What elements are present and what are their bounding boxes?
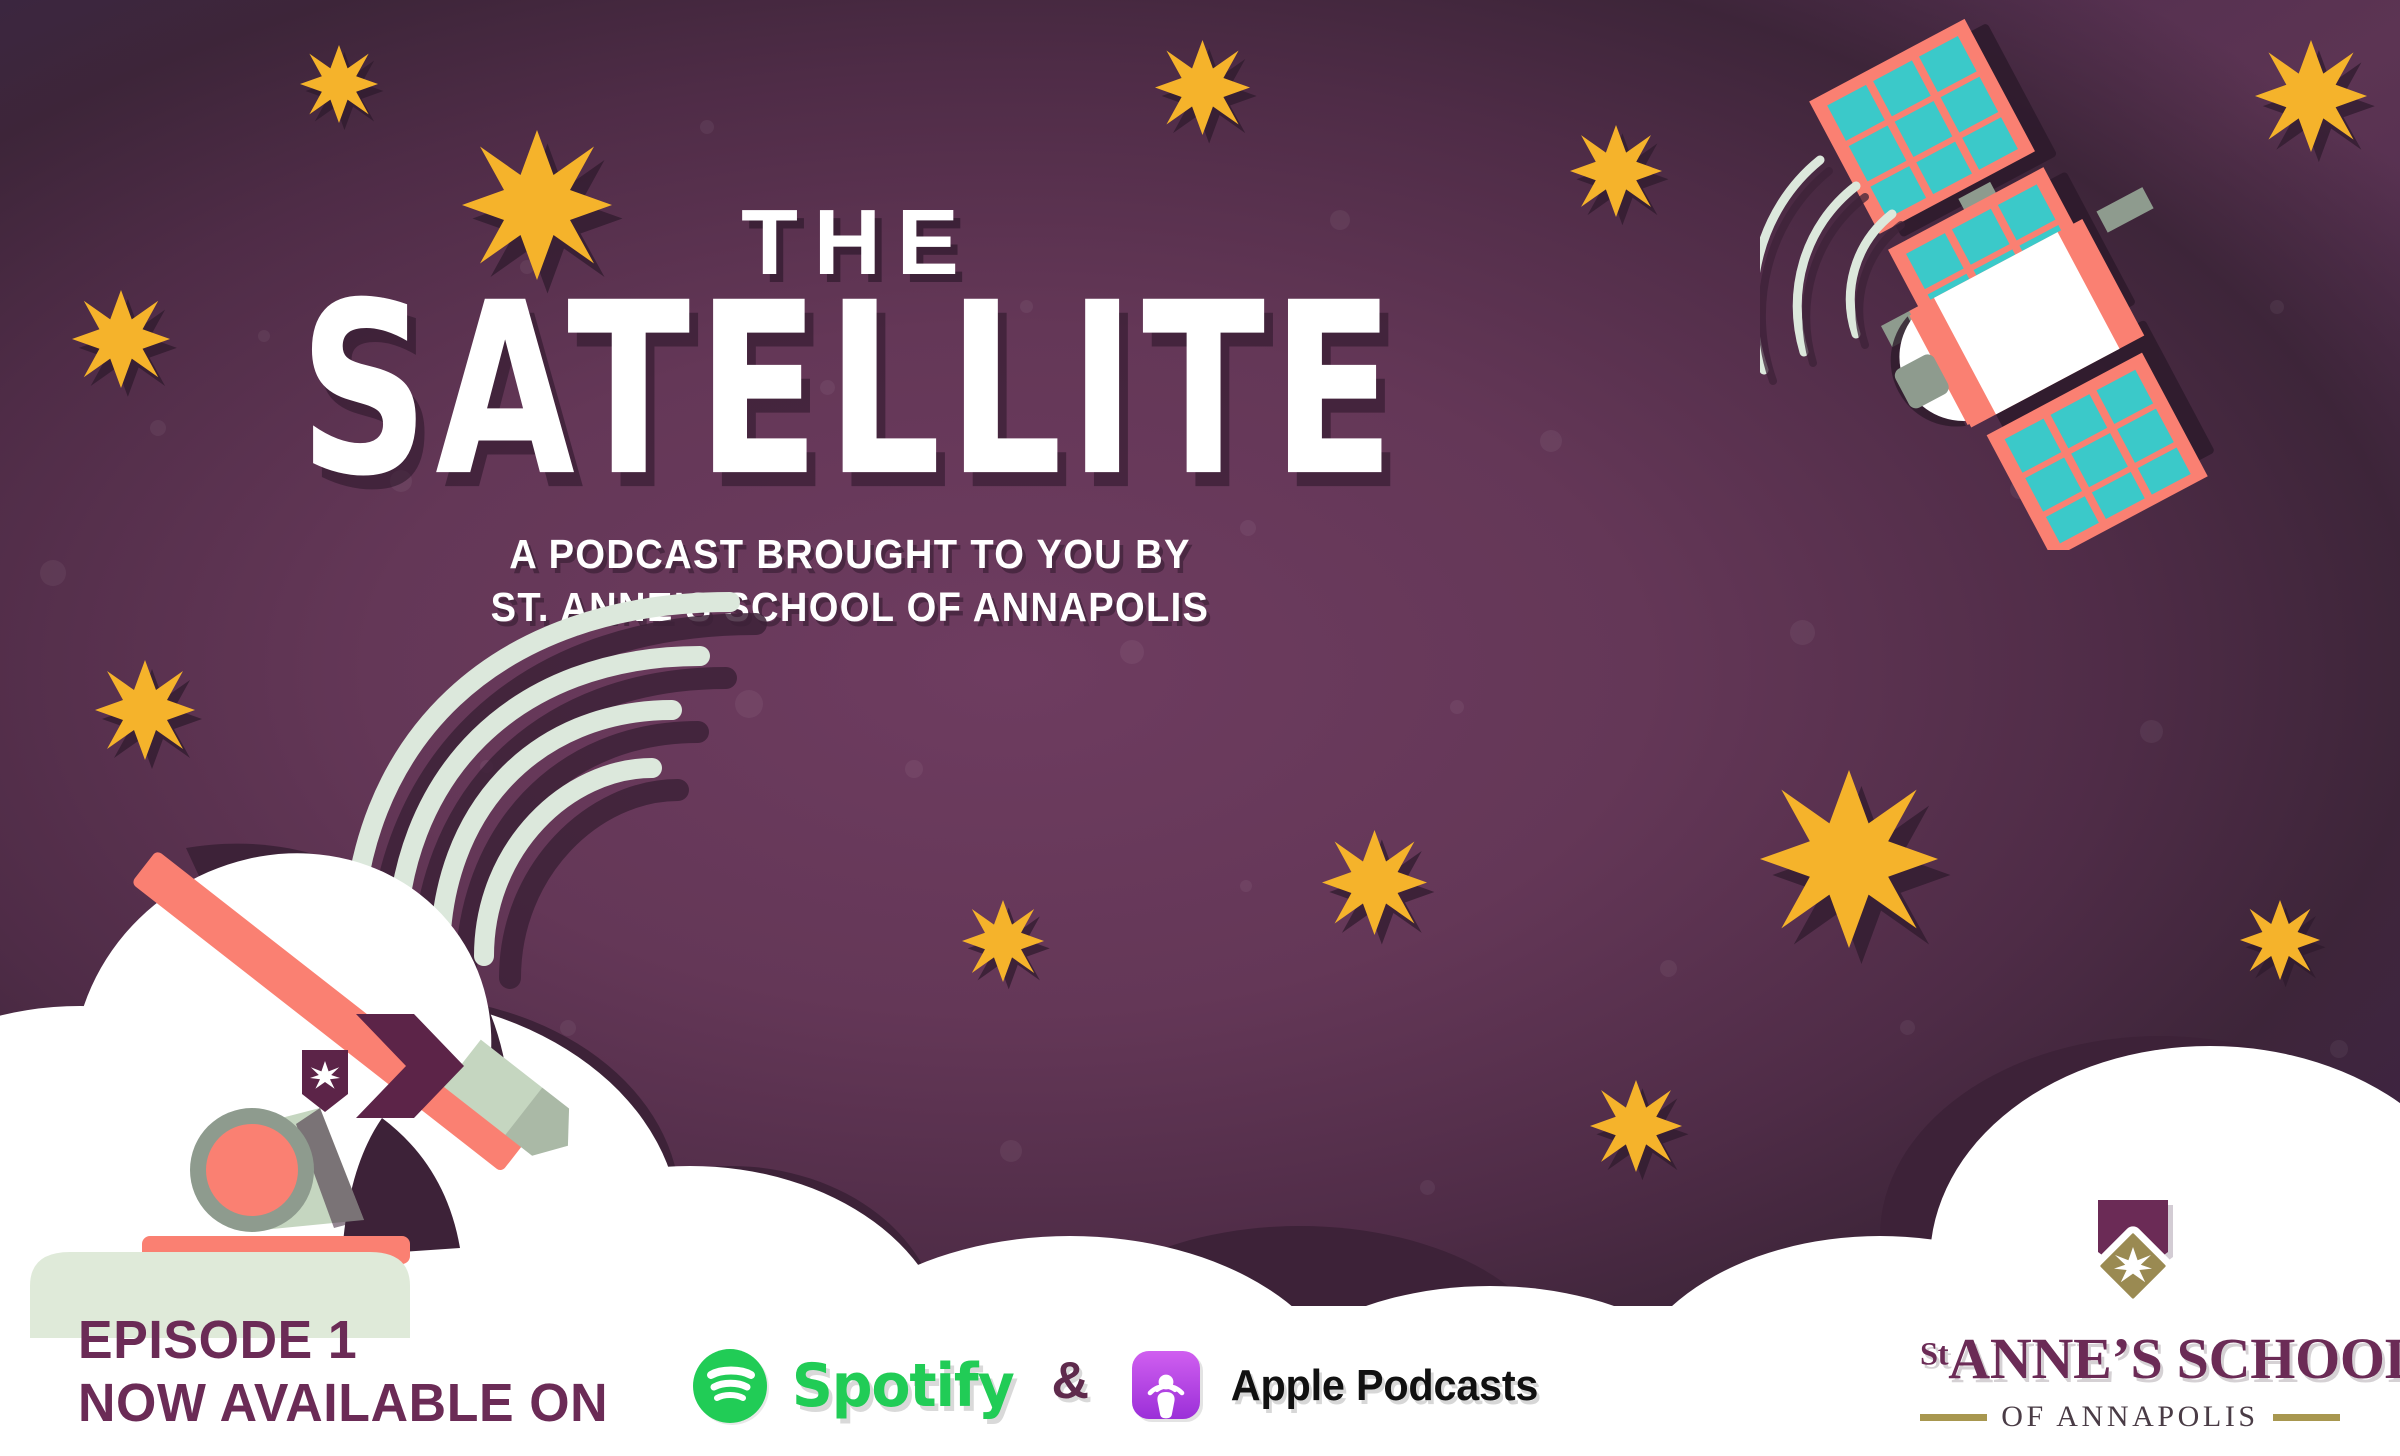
satellite-icon [1760,10,2320,550]
spotify-badge[interactable]: Spotify [690,1344,1019,1428]
episode-availability-text: EPISODE 1 NOW AVAILABLE ON [78,1309,608,1436]
rule-right [2273,1414,2340,1421]
ampersand: & [1045,1351,1099,1421]
star-10 [1760,770,1938,948]
school-logo-location: OF ANNAPOLIS [2001,1400,2258,1434]
star-7 [95,660,195,760]
school-logo: StANNE’S SCHOOL OF ANNAPOLIS [1920,1188,2340,1434]
rule-left [1920,1414,1987,1421]
radio-telescope-icon [0,818,690,1338]
apple-podcasts-badge[interactable]: Apple Podcasts [1125,1344,1548,1428]
star-9 [1322,830,1427,935]
star-1 [300,45,378,123]
apple-podcasts-icon [1125,1344,1209,1428]
streaming-services: Spotify & [690,1344,1548,1428]
apple-podcasts-label: Apple Podcasts [1231,1361,1538,1411]
spotify-icon [690,1344,774,1428]
school-logo-wordmark: StANNE’S SCHOOL [1920,1330,2340,1388]
spotify-label: Spotify [792,1351,1014,1421]
title-line-satellite: SATELLITE [102,280,1598,504]
star-3 [1155,40,1250,135]
school-logo-name: ANNE’S SCHOOL [1948,1326,2400,1391]
school-logo-location-row: OF ANNAPOLIS [1920,1400,2340,1434]
shield-with-star-crest [1920,1188,2340,1316]
star-11 [2240,900,2320,980]
promo-poster: THE SATELLITE A PODCAST BROUGHT TO YOU B… [0,0,2400,1456]
school-logo-prefix: St [1920,1336,1948,1372]
star-8 [962,900,1044,982]
